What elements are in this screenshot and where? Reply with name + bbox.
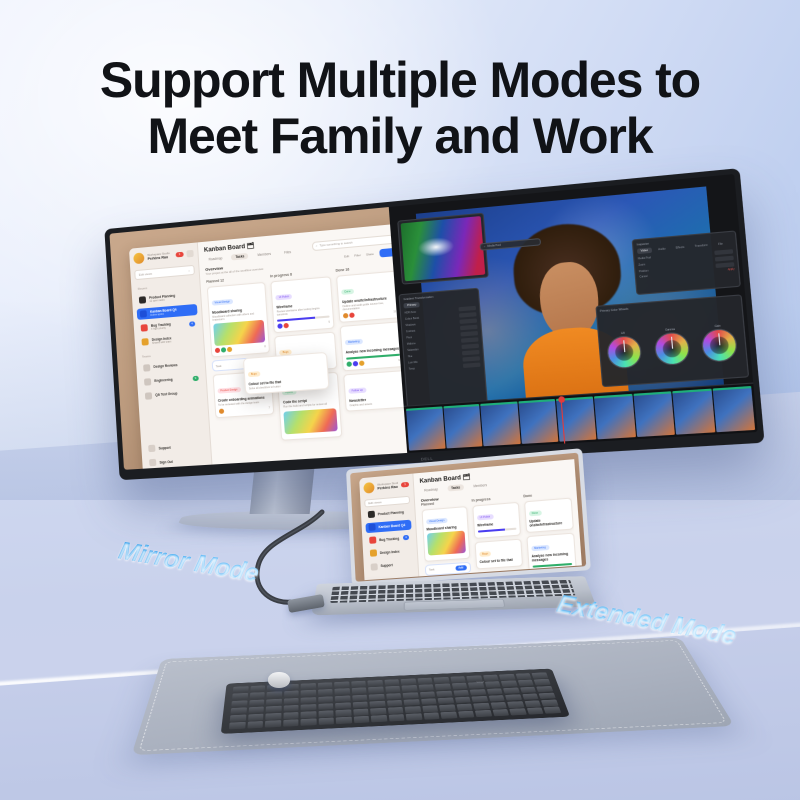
card-title: Moodboard sharing xyxy=(426,524,464,531)
sidebar-item-badge: 4 xyxy=(189,321,195,326)
card-tag: Bugs xyxy=(248,371,260,377)
tab-members[interactable]: Members xyxy=(253,250,275,258)
sidebar-item-product-planning[interactable]: Product Planning xyxy=(365,507,411,521)
card-tag: Done xyxy=(341,288,354,294)
timeline-clip[interactable] xyxy=(633,391,675,437)
kanban-card[interactable]: Marketing Analyse new incoming messages … xyxy=(340,321,405,371)
sidebar-item-support[interactable]: Support xyxy=(367,559,413,573)
timeline-clip[interactable] xyxy=(443,404,482,449)
sidebar-search-placeholder: Edit views xyxy=(368,500,382,505)
kanban-floating-card[interactable]: Bugs Colour set to file that Solve all c… xyxy=(243,352,330,395)
project-icon xyxy=(139,296,146,304)
timeline-clip[interactable] xyxy=(480,401,520,446)
sidebar-search-input[interactable]: Edit views xyxy=(364,495,410,507)
kanban-window: Workspace Studio Perkins Rao 3 Edit view… xyxy=(129,223,407,470)
tab-primary[interactable]: Primary xyxy=(404,302,420,308)
sidebar-item-badge: 9 xyxy=(193,375,199,380)
laptop-kanban-main: Kanban Board 🗂 Roadmap Tasks Members Ove… xyxy=(413,459,581,577)
ultrawide-monitor: Workspace Studio Perkins Rao 3 Edit view… xyxy=(112,228,712,480)
control-field[interactable] xyxy=(462,350,480,355)
sidebar-item-badge: 4 xyxy=(403,535,409,540)
search-icon: ⌕ xyxy=(484,245,486,248)
apply-button[interactable]: Apply xyxy=(728,269,735,272)
control-rows: HDR Zone Colour Boost Shadows Contrast P… xyxy=(405,306,482,372)
control-label: Lum Mix xyxy=(408,362,417,365)
project-icon xyxy=(140,310,147,318)
card-image xyxy=(213,320,266,346)
control-label: HDR Zone xyxy=(405,312,417,315)
user-badge: 3 xyxy=(401,481,409,487)
page-headline: Support Multiple Modes to Meet Family an… xyxy=(0,52,800,164)
volume-dial[interactable] xyxy=(268,672,290,688)
sidebar-item-kanban-board[interactable]: Kanban Board Q4 xyxy=(365,520,411,534)
column-count: 12 xyxy=(220,278,224,282)
media-pool-label: Media Pool xyxy=(487,243,501,247)
timeline-clip[interactable] xyxy=(672,389,714,435)
kanban-card[interactable]: UI Polish Wireframe Review wireframe aft… xyxy=(271,276,335,334)
team-icon xyxy=(144,378,151,386)
sidebar-item-label: QA Test Group xyxy=(155,390,199,397)
sidebar-search-input[interactable]: Edit views ⌄ xyxy=(135,264,195,279)
timeline-clip[interactable] xyxy=(406,406,445,450)
help-icon xyxy=(149,445,156,453)
card-progress-bar xyxy=(532,562,571,567)
inspector-fields: Media Pool Zoom Position Cancel Apply xyxy=(638,249,735,278)
card-drag-placeholder[interactable]: TaskAdd xyxy=(424,561,470,575)
monitor-brand-logo: DELL xyxy=(421,456,434,462)
color-wheel-gamma[interactable]: Gamma xyxy=(653,327,691,366)
sidebar-collapse-icon[interactable] xyxy=(186,249,193,257)
card-tag: Marketing xyxy=(345,339,363,346)
kanban-card[interactable]: Marketing Analyse new incoming messages xyxy=(526,532,576,574)
headline-line-2: Meet Family and Work xyxy=(0,108,800,164)
sidebar-section-teams: Teams xyxy=(140,350,200,359)
column-count: 16 xyxy=(345,267,349,271)
card-tag: Marketing xyxy=(531,544,549,550)
sidebar-search-placeholder: Edit views xyxy=(139,271,152,276)
drag-label: Task xyxy=(215,363,221,367)
color-wheel-icon[interactable] xyxy=(701,328,739,363)
sidebar-item-label: Bug Tracking xyxy=(379,536,400,542)
field-label: Position xyxy=(639,271,648,274)
card-comments: 8 xyxy=(264,345,266,348)
tab-tasks[interactable]: Tasks xyxy=(447,484,464,491)
control-field[interactable] xyxy=(463,357,481,362)
sidebar-item-engineering[interactable]: Engineering 9 xyxy=(141,372,201,387)
card-tag: UI Polish xyxy=(477,514,494,520)
card-tag: UI Polish xyxy=(276,293,293,299)
sidebar-item-label: Sign Out xyxy=(159,458,203,465)
card-image xyxy=(427,530,466,555)
color-wheel-gain[interactable]: Gain xyxy=(700,324,738,364)
field-label: Media Pool xyxy=(638,257,651,260)
tab-files[interactable]: Files xyxy=(280,248,295,255)
project-icon xyxy=(368,511,375,518)
field-input[interactable] xyxy=(715,262,734,268)
control-field[interactable] xyxy=(460,319,478,325)
project-icon xyxy=(142,338,149,346)
sidebar-section-projects: Recent xyxy=(136,281,196,290)
share-button[interactable]: Share xyxy=(366,251,374,256)
tab-transform[interactable]: Transform xyxy=(691,242,711,249)
cancel-button[interactable]: Cancel xyxy=(640,276,648,279)
control-label: Temp xyxy=(409,369,415,372)
sidebar-footer: Support Sign Out xyxy=(145,440,207,470)
user-name: Perkins Rao xyxy=(377,485,398,491)
card-avatars xyxy=(219,409,224,414)
card-avatars xyxy=(214,347,231,353)
monitor-left-screen-kanban: Workspace Studio Perkins Rao 3 Edit view… xyxy=(109,207,407,470)
card-avatars xyxy=(278,323,290,329)
card-tag: Visual Design xyxy=(426,517,448,524)
sidebar-user[interactable]: Workspace Studio Perkins Rao 3 xyxy=(134,247,194,263)
card-tag: Done xyxy=(528,510,541,516)
sidebar-item-qa-test-group[interactable]: QA Test Group xyxy=(142,386,202,401)
kanban-column-in-progress: In progress UI Polish Wireframe Bugs Col… xyxy=(471,494,522,572)
kanban-column-planned: Planned Visual Design Moodboard sharing … xyxy=(421,499,471,576)
monitor-screen: Workspace Studio Perkins Rao 3 Edit view… xyxy=(109,174,757,470)
field-input[interactable] xyxy=(715,256,734,262)
keyboard-brand-logo: logi xyxy=(476,680,484,683)
drag-badge: Add xyxy=(455,565,466,571)
edit-button[interactable]: Edit xyxy=(344,254,349,259)
team-icon xyxy=(145,392,152,400)
sidebar-item-label: Engineering xyxy=(154,376,190,383)
card-tag: Visual Design xyxy=(211,298,233,305)
control-label: Colour Boost xyxy=(405,318,419,321)
card-comments: 5 xyxy=(328,321,330,324)
tab-file[interactable]: File xyxy=(715,241,727,247)
sidebar-item-label: Design Reviews xyxy=(153,362,197,369)
sidebar-item-label: Support xyxy=(159,443,203,450)
project-icon xyxy=(370,550,377,557)
board-emoji-icon: 🗂 xyxy=(247,243,255,250)
laptop: Workspace Studio Perkins Rao 3 Edit view… xyxy=(318,468,588,668)
control-label: Pivot xyxy=(406,337,412,339)
laptop-trackpad[interactable] xyxy=(403,599,505,610)
card-tag: Bugs xyxy=(479,551,491,557)
kanban-column-done: Done Done Update onsite/infrastructure M… xyxy=(523,490,576,569)
laptop-kanban-sidebar: Workspace Studio Perkins Rao 3 Edit view… xyxy=(359,473,419,580)
user-name: Perkins Rao xyxy=(148,255,174,261)
page-title-text: Kanban Board xyxy=(204,244,246,254)
sidebar-item-label: Product Planning xyxy=(378,510,408,516)
color-wheels-row: Lift Gamma Gain xyxy=(600,305,744,388)
sidebar-item-bug-tracking[interactable]: Bug Tracking 4 high priority 4 xyxy=(138,318,198,334)
sidebar-item-label: Design Index xyxy=(380,549,410,555)
user-badge: 3 xyxy=(176,251,184,257)
filter-button[interactable]: Filter xyxy=(354,253,361,258)
tab-roadmap[interactable]: Roadmap xyxy=(204,254,226,262)
card-title: Analyse new incoming messages xyxy=(531,551,571,562)
control-label: Shadows xyxy=(406,325,416,328)
card-progress-bar xyxy=(478,527,516,532)
column-name: In progress xyxy=(270,272,289,278)
control-label: Saturation xyxy=(407,349,418,352)
vectorscope-graphic xyxy=(400,216,485,281)
avatar xyxy=(134,252,145,264)
kanban-card[interactable]: Bugs Colour set to file that xyxy=(474,538,523,569)
tab-audio[interactable]: Audio xyxy=(655,246,670,253)
timeline-clip[interactable] xyxy=(518,399,558,444)
field-label: Zoom xyxy=(639,264,646,267)
color-wheels-panel: Primary Color Wheels Lift Gamma Gain xyxy=(595,295,749,388)
color-wheel-icon[interactable] xyxy=(606,335,643,370)
control-label: Hue xyxy=(408,356,413,358)
card-avatars xyxy=(346,361,364,367)
laptop-kanban-columns: Planned Visual Design Moodboard sharing … xyxy=(421,490,576,576)
control-field[interactable] xyxy=(463,363,481,368)
sidebar-item-design-index[interactable]: Design Index Shared with team xyxy=(139,332,199,348)
sidebar-item-product-planning[interactable]: Product Planning 12 open tasks xyxy=(136,289,196,305)
control-field[interactable] xyxy=(459,306,477,312)
page-title-text: Kanban Board xyxy=(419,475,461,485)
tab-roadmap[interactable]: Roadmap xyxy=(420,486,442,494)
card-avatars xyxy=(343,313,355,319)
project-icon xyxy=(368,524,375,531)
column-count: 8 xyxy=(290,272,292,276)
timeline-clip[interactable] xyxy=(712,386,755,432)
board-emoji-icon: 🗂 xyxy=(462,474,470,481)
sidebar-item-support[interactable]: Support xyxy=(145,440,206,455)
color-wheel-lift[interactable]: Lift xyxy=(606,331,643,370)
avatar xyxy=(363,481,374,493)
help-icon xyxy=(371,563,378,570)
logout-icon xyxy=(149,459,156,466)
tab-effects[interactable]: Effects xyxy=(672,244,688,251)
sidebar-item-design-index[interactable]: Design Index xyxy=(367,546,413,559)
kanban-card[interactable]: Visual Design Moodboard sharing Moodboar… xyxy=(206,281,270,357)
card-tag: Product Design xyxy=(217,387,241,394)
column-name: Planned xyxy=(206,278,219,283)
control-field[interactable] xyxy=(462,344,480,349)
sidebar-item-kanban-board[interactable]: Kanban Board Q4 Active sprint xyxy=(137,304,197,320)
card-comments: 7 xyxy=(269,407,271,410)
control-label: Midtone xyxy=(407,343,416,346)
timeline-clip[interactable] xyxy=(594,394,635,440)
chevron-down-icon: ⌄ xyxy=(188,268,191,272)
laptop-base xyxy=(311,576,596,615)
card-title: Wireframe xyxy=(477,520,516,527)
laptop-kanban-window: Workspace Studio Perkins Rao 3 Edit view… xyxy=(359,459,581,580)
control-field[interactable] xyxy=(461,338,479,344)
sidebar-item-label: Support xyxy=(380,562,410,568)
search-placeholder: Type something to search xyxy=(319,240,352,247)
kanban-main: Kanban Board 🗂 Roadmap Tasks Members Fil… xyxy=(197,223,407,470)
kanban-card[interactable]: Done Update onsite/infrastructure xyxy=(524,497,574,533)
control-field[interactable] xyxy=(460,325,478,331)
sidebar-footer: Support xyxy=(367,559,413,575)
tab-tasks[interactable]: Tasks xyxy=(231,252,248,260)
project-icon xyxy=(141,324,148,332)
tab-video[interactable]: Video xyxy=(637,248,651,255)
headline-line-1: Support Multiple Modes to xyxy=(100,52,700,108)
kanban-card[interactable]: Visual Design Moodboard sharing xyxy=(421,506,470,562)
kanban-card[interactable]: UI Polish Wireframe xyxy=(472,501,521,538)
control-label: Contrast xyxy=(406,331,415,334)
laptop-lid: Workspace Studio Perkins Rao 3 Edit view… xyxy=(346,448,591,586)
control-field[interactable] xyxy=(461,331,479,337)
field-input[interactable] xyxy=(714,249,733,255)
color-wheel-icon[interactable] xyxy=(653,332,690,367)
sidebar-item-sign-out[interactable]: Sign Out xyxy=(146,454,207,469)
sidebar-item-label: Kanban Board Q4 xyxy=(378,523,408,529)
project-icon xyxy=(369,537,376,544)
monitor-right-screen-video-editor: ⌕ Media Pool Gradient Transformation Pri… xyxy=(389,174,758,453)
sidebar-item-bug-tracking[interactable]: Bug Tracking 4 xyxy=(366,533,412,546)
kanban-card[interactable]: Follow up Newsletter Graphic and assets xyxy=(343,370,407,412)
inspector-panel: Inspector Video Audio Effects Transform … xyxy=(632,231,741,296)
drag-label: Task xyxy=(429,567,435,571)
card-title: Update onsite/infrastructure xyxy=(529,516,569,527)
team-icon xyxy=(143,364,150,372)
search-icon: ⌕ xyxy=(316,244,318,248)
laptop-screen-kanban-mirror: Workspace Studio Perkins Rao 3 Edit view… xyxy=(350,453,586,582)
sidebar-user[interactable]: Workspace Studio Perkins Rao 3 xyxy=(363,478,409,493)
card-title: Colour set to file that xyxy=(479,557,518,564)
control-field[interactable] xyxy=(459,312,477,318)
card-tag: Follow up xyxy=(348,388,366,394)
scope-panel xyxy=(397,213,489,285)
column-name: Done xyxy=(335,267,344,272)
kanban-card[interactable]: Done Update onsite/infrastructure Outlin… xyxy=(336,270,401,323)
sidebar-item-design-reviews[interactable]: Design Reviews xyxy=(140,358,200,374)
tab-members[interactable]: Members xyxy=(469,481,491,489)
card-image xyxy=(284,408,338,434)
